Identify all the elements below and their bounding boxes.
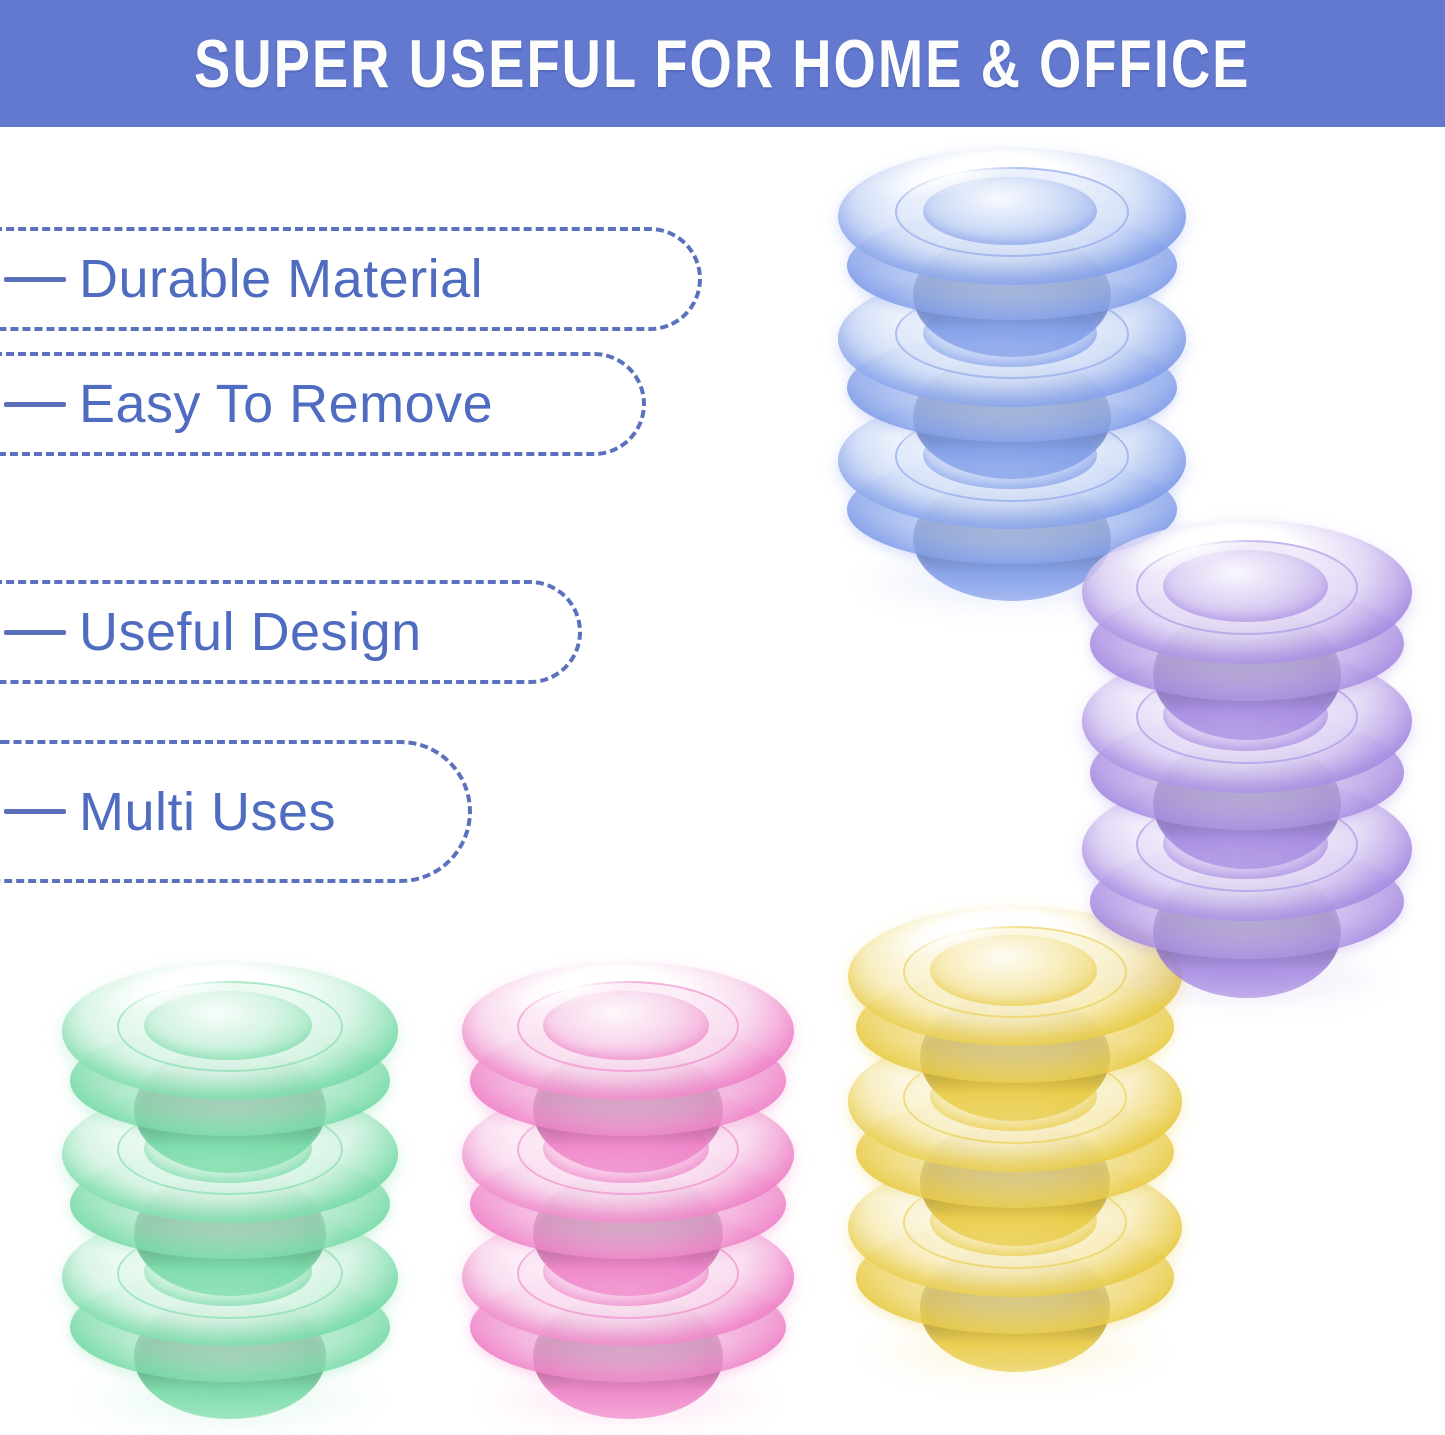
- bumper-pad: [62, 962, 398, 1217]
- dash-icon: [4, 630, 66, 635]
- product-feature-graphic: SUPER USEFUL FOR HOME & OFFICE Durable M…: [0, 0, 1445, 1435]
- pad-inner-button: [144, 991, 312, 1060]
- pad-inner-button: [923, 177, 1097, 245]
- dash-icon: [4, 277, 66, 282]
- feature-item-durable-material: Durable Material: [0, 227, 702, 331]
- bumper-pad: [462, 962, 794, 1217]
- feature-label: Durable Material: [79, 252, 483, 306]
- feature-label: Useful Design: [79, 605, 422, 659]
- dash-icon: [4, 402, 66, 407]
- feature-list: Durable Material Easy To Remove Useful D…: [0, 0, 760, 960]
- bumper-pad: [1082, 520, 1412, 786]
- pad-inner-button: [543, 991, 709, 1060]
- pad-inner-button: [930, 935, 1097, 1005]
- dash-icon: [4, 809, 66, 814]
- product-stack-pink: [462, 962, 794, 1414]
- product-stack-purple: [1082, 520, 1412, 992]
- feature-label: Easy To Remove: [79, 377, 493, 431]
- feature-item-multi-uses: Multi Uses: [0, 740, 472, 883]
- product-stack-green: [62, 962, 398, 1414]
- feature-item-useful-design: Useful Design: [0, 580, 582, 684]
- feature-item-easy-to-remove: Easy To Remove: [0, 352, 646, 456]
- bumper-pad: [838, 148, 1186, 401]
- pad-inner-button: [1163, 550, 1328, 622]
- feature-label: Multi Uses: [79, 785, 336, 839]
